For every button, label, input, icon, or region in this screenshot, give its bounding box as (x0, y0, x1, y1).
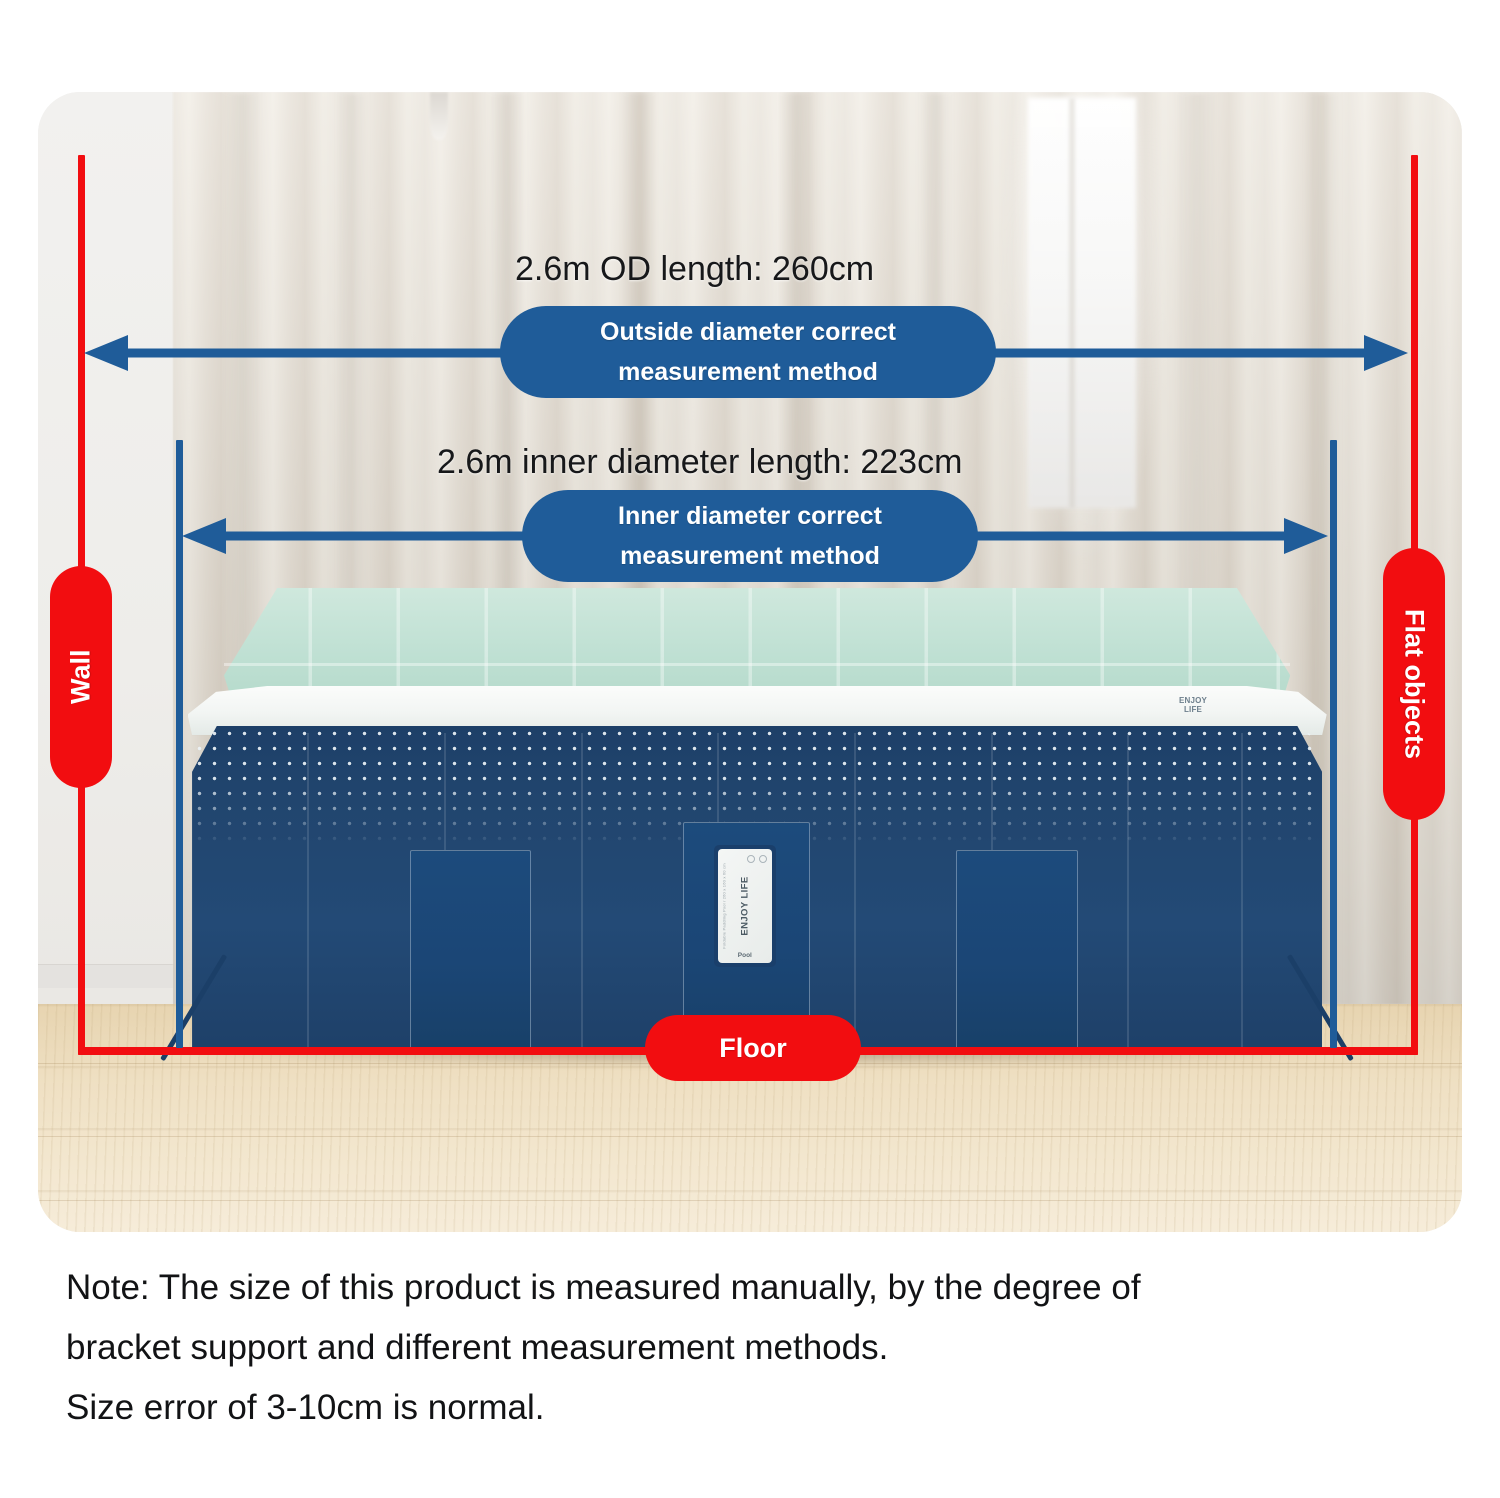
note-line-2: bracket support and different measuremen… (66, 1318, 1446, 1378)
rim-brand-line2: LIFE (1179, 706, 1207, 714)
pool-panel-seam (854, 733, 856, 1055)
hang-tag-footer: Pool (738, 952, 752, 959)
hang-tag-card: ENJOY LIFE Foldable Paddling Pool / 260 … (718, 849, 772, 963)
pool-support-flap (956, 850, 1078, 1055)
hang-tag-spec: Foldable Paddling Pool / 260 x 160 x 60 … (722, 863, 727, 949)
product-photo: ENJOY LIFE ENJOY LIFE Foldable Paddling … (38, 92, 1462, 1232)
floor-seam (38, 1200, 1462, 1201)
note-block: Note: The size of this product is measur… (66, 1258, 1446, 1439)
product-hang-tag: ENJOY LIFE Foldable Paddling Pool / 260 … (714, 845, 776, 967)
note-line-1: Note: The size of this product is measur… (66, 1258, 1446, 1318)
swimming-pool: ENJOY LIFE ENJOY LIFE Foldable Paddling … (188, 588, 1327, 1055)
hang-tag-hole (759, 855, 767, 863)
hang-tag-brand: ENJOY LIFE (739, 876, 750, 935)
rim-brand-logo: ENJOY LIFE (1179, 697, 1207, 714)
pool-interior-waterline (224, 663, 1290, 666)
floor-seam (38, 1136, 1462, 1137)
hang-tag-hole (747, 855, 755, 863)
pool-panel-seam (307, 733, 309, 1055)
note-line-3: Size error of 3-10cm is normal. (66, 1378, 1446, 1438)
pool-panel-seam (1127, 733, 1129, 1055)
pool-support-flap (410, 850, 532, 1055)
pool-panel-seam (1241, 733, 1243, 1055)
ceiling-light (430, 92, 449, 140)
pool-panel-seam (581, 733, 583, 1055)
